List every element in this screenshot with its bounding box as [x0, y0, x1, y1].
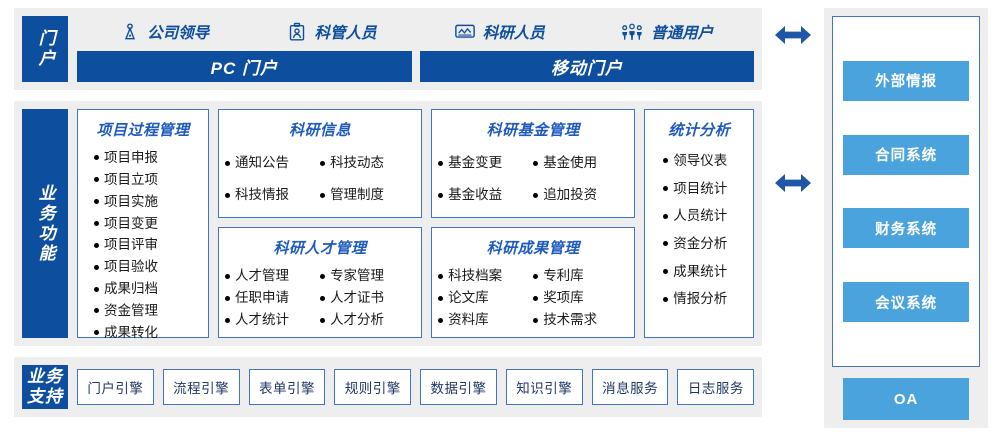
list-item[interactable]: 资料库: [438, 309, 533, 331]
panel-research-achievement[interactable]: 科研成果管理 科技档案 专利库 论文库 奖项库 资料库 技术需求: [431, 227, 635, 338]
engine-portal[interactable]: 门户引擎: [77, 369, 154, 405]
external-systems-column: 外部情报 合同系统 财务系统 会议系统 OA: [824, 8, 988, 428]
list-item[interactable]: 基金变更: [438, 147, 533, 179]
list-item[interactable]: 专家管理: [320, 265, 415, 287]
list-item[interactable]: 奖项库: [533, 287, 628, 309]
list-item[interactable]: 基金使用: [533, 147, 628, 179]
panel-research-info-items: 通知公告 科技动态 科技情报 管理制度: [225, 147, 415, 211]
portal-band-label-text: 门户: [34, 29, 55, 69]
service-log[interactable]: 日志服务: [677, 369, 754, 405]
leader-icon: [120, 22, 140, 42]
list-item[interactable]: 管理制度: [320, 179, 415, 211]
role-row: 公司领导 科管人员: [77, 16, 754, 46]
portal-bars: PC 门户 移动门户: [77, 51, 754, 82]
external-systems-box: 外部情报 合同系统 财务系统 会议系统: [832, 16, 980, 367]
list-item[interactable]: 人才管理: [225, 265, 320, 287]
id-badge-icon: [287, 22, 307, 42]
business-function-band-label: 业务功能: [22, 109, 68, 338]
chart-monitor-icon: [454, 22, 476, 42]
panel-research-fund-title: 科研基金管理: [438, 119, 628, 140]
engine-form[interactable]: 表单引擎: [249, 369, 326, 405]
panel-project-process-items: 项目申报 项目立项 项目实施 项目变更 项目评审 项目验收 成果归档 资金管理 …: [84, 147, 202, 344]
role-company-leader[interactable]: 公司领导: [81, 21, 248, 43]
middle-panels-column: 科研信息 通知公告 科技动态 科技情报 管理制度 科研基金管理 基金: [218, 109, 635, 338]
business-function-band: 业务功能 项目过程管理 项目申报 项目立项 项目实施 项目变更 项目评审 项目验…: [14, 101, 762, 346]
panel-statistics-analysis-items: 领导仪表 项目统计 人员统计 资金分析 成果统计 情报分析: [651, 147, 747, 331]
list-item[interactable]: 专利库: [533, 265, 628, 287]
system-contract[interactable]: 合同系统: [843, 135, 969, 175]
list-item[interactable]: 技术需求: [533, 309, 628, 331]
engine-rule[interactable]: 规则引擎: [334, 369, 411, 405]
panel-research-achievement-title: 科研成果管理: [438, 237, 628, 258]
main-column: 门户 公司领导: [14, 8, 762, 428]
list-item[interactable]: 资金管理: [94, 300, 202, 322]
panel-statistics-analysis[interactable]: 统计分析 领导仪表 项目统计 人员统计 资金分析 成果统计 情报分析: [644, 109, 754, 338]
engine-data[interactable]: 数据引擎: [420, 369, 497, 405]
user-group-icon: [620, 22, 644, 42]
portal-band: 门户 公司领导: [14, 8, 762, 90]
list-item[interactable]: 领导仪表: [663, 147, 747, 175]
list-item[interactable]: 项目立项: [94, 169, 202, 191]
system-external-intelligence[interactable]: 外部情报: [843, 61, 969, 101]
list-item[interactable]: 论文库: [438, 287, 533, 309]
list-item[interactable]: 人才分析: [320, 309, 415, 331]
business-support-band-label: 业务支持: [22, 365, 68, 409]
integration-arrows: [774, 8, 812, 428]
engine-knowledge[interactable]: 知识引擎: [506, 369, 583, 405]
system-finance[interactable]: 财务系统: [843, 208, 969, 248]
panel-statistics-analysis-title: 统计分析: [651, 119, 747, 140]
portal-body: 公司领导 科管人员: [77, 16, 754, 82]
panel-project-process-title: 项目过程管理: [84, 119, 202, 140]
list-item[interactable]: 成果统计: [663, 258, 747, 286]
double-arrow-icon-bottom: [774, 170, 812, 196]
role-general-user[interactable]: 普通用户: [583, 21, 750, 43]
list-item[interactable]: 成果归档: [94, 278, 202, 300]
portal-bar-mobile[interactable]: 移动门户: [420, 51, 755, 82]
list-item[interactable]: 追加投资: [533, 179, 628, 211]
panel-research-talent-items: 人才管理 专家管理 任职申请 人才证书 人才统计 人才分析: [225, 265, 415, 331]
list-item[interactable]: 人才证书: [320, 287, 415, 309]
list-item[interactable]: 项目统计: [663, 175, 747, 203]
list-item[interactable]: 通知公告: [225, 147, 320, 179]
list-item[interactable]: 科技动态: [320, 147, 415, 179]
list-item[interactable]: 人才统计: [225, 309, 320, 331]
role-researcher-label: 科研人员: [483, 21, 545, 43]
middle-panels-row-bottom: 科研人才管理 人才管理 专家管理 任职申请 人才证书 人才统计 人才分析: [218, 227, 635, 338]
business-function-body: 项目过程管理 项目申报 项目立项 项目实施 项目变更 项目评审 项目验收 成果归…: [77, 109, 754, 338]
list-item[interactable]: 人员统计: [663, 202, 747, 230]
list-item[interactable]: 项目验收: [94, 256, 202, 278]
list-item[interactable]: 项目评审: [94, 234, 202, 256]
business-support-band: 业务支持 门户引擎 流程引擎 表单引擎 规则引擎 数据引擎 知识引擎 消息服务 …: [14, 357, 762, 417]
engine-workflow[interactable]: 流程引擎: [163, 369, 240, 405]
architecture-diagram: 门户 公司领导: [0, 0, 1000, 436]
middle-panels-row-top: 科研信息 通知公告 科技动态 科技情报 管理制度 科研基金管理 基金: [218, 109, 635, 218]
list-item[interactable]: 项目实施: [94, 191, 202, 213]
list-item[interactable]: 情报分析: [663, 285, 747, 313]
list-item[interactable]: 基金收益: [438, 179, 533, 211]
panel-research-info[interactable]: 科研信息 通知公告 科技动态 科技情报 管理制度: [218, 109, 422, 218]
portal-bar-pc[interactable]: PC 门户: [77, 51, 412, 82]
role-company-leader-label: 公司领导: [147, 21, 209, 43]
double-arrow-icon-top: [774, 22, 812, 48]
list-item[interactable]: 科技档案: [438, 265, 533, 287]
service-message[interactable]: 消息服务: [592, 369, 669, 405]
panel-project-process[interactable]: 项目过程管理 项目申报 项目立项 项目实施 项目变更 项目评审 项目验收 成果归…: [77, 109, 209, 338]
list-item[interactable]: 项目申报: [94, 147, 202, 169]
panel-research-talent[interactable]: 科研人才管理 人才管理 专家管理 任职申请 人才证书 人才统计 人才分析: [218, 227, 422, 338]
panel-research-info-title: 科研信息: [225, 119, 415, 140]
role-research-admin-label: 科管人员: [314, 21, 376, 43]
role-researcher[interactable]: 科研人员: [416, 21, 583, 43]
panel-research-fund-items: 基金变更 基金使用 基金收益 追加投资: [438, 147, 628, 211]
business-support-body: 门户引擎 流程引擎 表单引擎 规则引擎 数据引擎 知识引擎 消息服务 日志服务: [77, 365, 754, 409]
panel-research-talent-title: 科研人才管理: [225, 237, 415, 258]
system-oa[interactable]: OA: [843, 378, 969, 420]
list-item[interactable]: 资金分析: [663, 230, 747, 258]
list-item[interactable]: 成果转化: [94, 322, 202, 344]
list-item[interactable]: 项目变更: [94, 213, 202, 235]
portal-band-label: 门户: [22, 16, 68, 82]
business-function-band-label-text: 业务功能: [34, 184, 55, 264]
role-general-user-label: 普通用户: [651, 21, 713, 43]
business-support-band-label-text: 业务支持: [22, 367, 68, 407]
system-meeting[interactable]: 会议系统: [843, 282, 969, 322]
role-research-admin[interactable]: 科管人员: [248, 21, 415, 43]
panel-research-fund[interactable]: 科研基金管理 基金变更 基金使用 基金收益 追加投资: [431, 109, 635, 218]
panel-research-achievement-items: 科技档案 专利库 论文库 奖项库 资料库 技术需求: [438, 265, 628, 331]
list-item[interactable]: 任职申请: [225, 287, 320, 309]
list-item[interactable]: 科技情报: [225, 179, 320, 211]
